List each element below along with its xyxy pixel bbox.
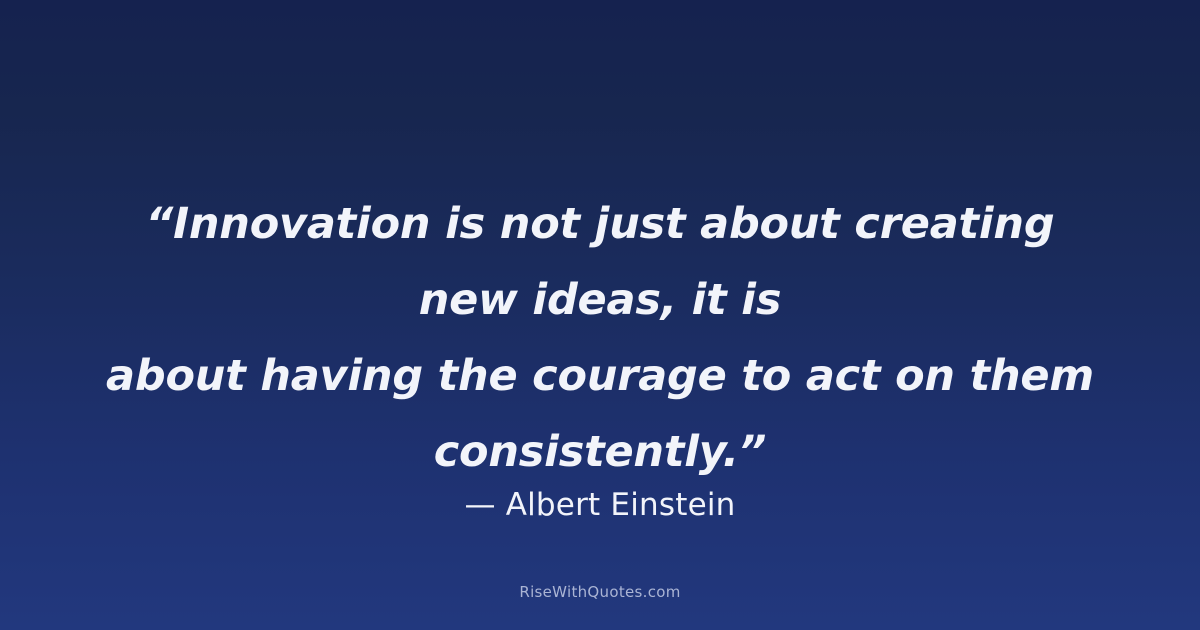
quote-card: “Innovation is not just about creating n… — [0, 0, 1200, 630]
quote-block: “Innovation is not just about creating n… — [0, 186, 1200, 490]
quote-text: “Innovation is not just about creating n… — [96, 186, 1104, 490]
site-watermark: RiseWithQuotes.com — [0, 583, 1200, 601]
quote-attribution: — Albert Einstein — [0, 487, 1200, 523]
